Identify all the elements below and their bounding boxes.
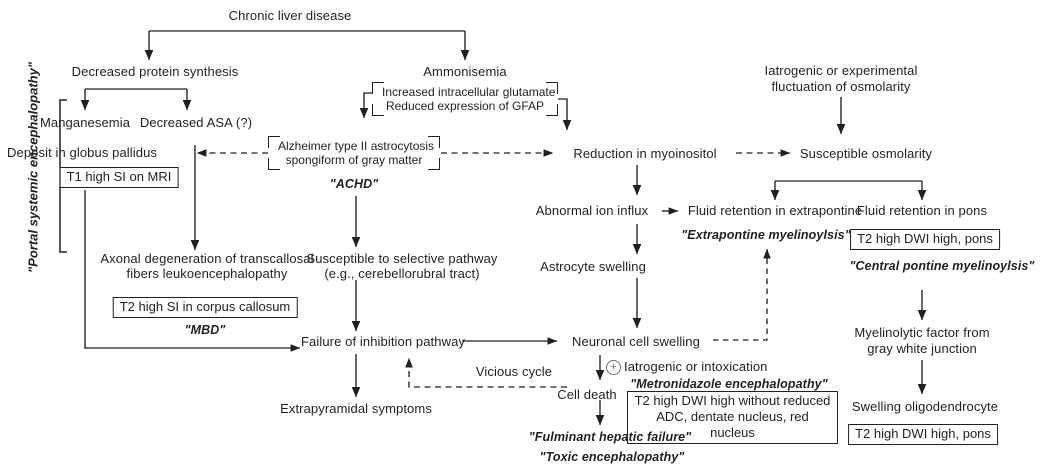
metronidazole-detail-line1: T2 high DWI high without reduced	[634, 393, 831, 409]
italic-label-extrapontine-myelinoylsis: "Extrapontine myelinoylsis"	[681, 228, 850, 243]
node-myelinolytic-factor-line1: Myelinolytic factor from	[854, 325, 989, 340]
node-manganesemia: Manganesemia	[40, 115, 130, 130]
italic-label-toxic-encephalopathy: "Toxic encephalopathy"	[540, 450, 685, 465]
italic-label-central-pontine-myelinoylsis: "Central pontine myelinoylsis"	[849, 259, 1034, 274]
alzheimer-line1: Alzheimer type II astrocytosis	[278, 139, 430, 153]
alzheimer-line2: spongiform of gray matter	[278, 153, 430, 167]
italic-label-achd: "ACHD"	[330, 177, 379, 192]
node-reduction-in-myoinositol: Reduction in myoinositol	[573, 146, 716, 161]
node-abnormal-ion-influx: Abnormal ion influx	[536, 203, 648, 218]
node-axonal-degeneration-line2: fibers leukoencephalopathy	[127, 266, 288, 281]
node-cell-death: Cell death	[557, 387, 617, 402]
node-decreased-asa: Decreased ASA (?)	[140, 115, 252, 130]
ammonisemia-detail-bracket-box: Increased intracellular glutamate Reduce…	[372, 82, 558, 116]
ammonisemia-detail-line1: Increased intracellular glutamate	[382, 85, 548, 99]
node-decreased-protein-synthesis: Decreased protein synthesis	[72, 64, 239, 79]
node-axonal-degeneration-line1: Axonal degeneration of transcallosal	[100, 251, 313, 266]
node-failure-inhibition-pathway: Failure of inhibition pathway	[301, 334, 465, 349]
flowchart-canvas: dashed ---> Reduction in myoinositol -->…	[0, 0, 1055, 474]
mri-box-t2-dwi-pons-bottom: T2 high DWI high, pons	[848, 424, 998, 445]
bracket-corner-bl	[372, 104, 384, 116]
ammonisemia-detail-line2: Reduced expression of GFAP	[382, 99, 548, 113]
node-chronic-liver-disease: Chronic liver disease	[229, 8, 352, 23]
node-susceptible-pathway-line1: Susceptible to selective pathway	[306, 251, 497, 266]
mri-box-t2-corpus-callosum: T2 high SI in corpus callosum	[113, 297, 298, 318]
bracket-corner-tl	[268, 136, 280, 148]
node-fluid-retention-extrapontine: Fluid retention in extrapontine	[688, 203, 862, 218]
bracket-corner-tr	[428, 136, 440, 148]
mri-box-t1-globus-pallidus: T1 high SI on MRI	[60, 167, 179, 188]
node-myelinolytic-factor-line2: gray white junction	[867, 341, 977, 356]
bracket-corner-br	[428, 158, 440, 170]
bracket-corner-tr	[546, 82, 558, 94]
node-neuronal-cell-swelling: Neuronal cell swelling	[572, 334, 700, 349]
italic-label-metronidazole-encephalopathy: "Metronidazole encephalopathy"	[630, 377, 828, 392]
plus-circle-icon: +	[606, 360, 621, 375]
node-swelling-oligodendrocyte: Swelling oligodendrocyte	[852, 399, 998, 414]
node-susceptible-osmolarity: Susceptible osmolarity	[800, 146, 932, 161]
bracket-corner-bl	[268, 158, 280, 170]
italic-label-fulminant-hepatic-failure: "Fulminant hepatic failure"	[529, 430, 692, 445]
italic-label-mbd: "MBD"	[185, 323, 226, 338]
node-deposit-globus-pallidus: Deposit in globus pallidus	[7, 145, 157, 160]
node-iatrogenic-osmolarity-line1: Iatrogenic or experimental	[765, 63, 918, 78]
node-iatrogenic-or-intoxication: Iatrogenic or intoxication	[624, 359, 768, 374]
node-fluid-retention-pons: Fluid retention in pons	[857, 203, 987, 218]
mri-box-t2-dwi-pons-top: T2 high DWI high, pons	[850, 229, 1000, 250]
portal-systemic-encephalopathy-label: "Portal systemic encephalopathy"	[26, 53, 41, 283]
node-vicious-cycle: Vicious cycle	[476, 364, 552, 379]
plus-symbol: +	[610, 361, 616, 373]
alzheimer-astrocytosis-bracket-box: Alzheimer type II astrocytosis spongifor…	[268, 136, 440, 170]
bracket-corner-tl	[372, 82, 384, 94]
node-extrapyramidal-symptoms: Extrapyramidal symptoms	[280, 401, 432, 416]
node-astrocyte-swelling: Astrocyte swelling	[540, 259, 646, 274]
node-iatrogenic-osmolarity-line2: fluctuation of osmolarity	[771, 79, 910, 94]
node-susceptible-pathway-line2: (e.g., cerebellorubral tract)	[324, 266, 479, 281]
node-ammonisemia: Ammonisemia	[423, 64, 506, 79]
bracket-corner-br	[546, 104, 558, 116]
